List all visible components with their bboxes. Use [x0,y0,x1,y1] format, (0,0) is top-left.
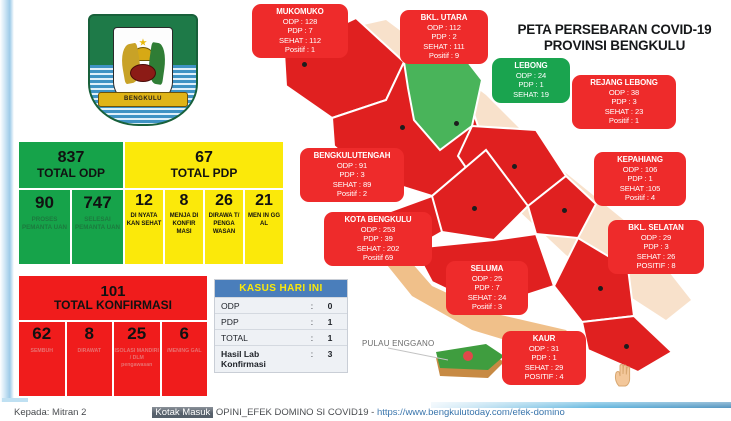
konfirmasi-cell-label: /MENING GAL [167,348,202,355]
konfirmasi-cell-label: SEMBUH [31,348,53,355]
callout-kaur[interactable]: KAUR ODP : 31 PDP : 1 SEHAT : 29 POSITIF… [502,331,586,385]
row-label: ODP [221,301,305,311]
callout-lebong[interactable]: LEBONG ODP : 24 PDP : 1 SEHAT: 19 [492,58,570,103]
callout-sehat: SEHAT : 202 [331,244,425,253]
strip-url[interactable]: https://www.bengkulutoday.com/efek-domin… [377,407,565,418]
pdp-cell-label: MEN IN GG AL [245,212,283,228]
kasus-hari-ini-table: KASUS HARI INI ODP : 0 PDP : 1 TOTAL : 1… [214,279,348,373]
map-dot-lebong [454,121,459,126]
konfirmasi-cell-value: 25 [127,324,146,344]
callout-name: KEPAHIANG [601,155,679,165]
callout-sehat: SEHAT : 29 [509,363,579,372]
strip-text-line[interactable]: Kepada: Mitran 2 Kotak Masuk OPINI_EFEK … [14,407,565,418]
callout-positif: Positif : 2 [307,189,397,198]
total-konfirmasi-value: 101 [100,284,125,300]
konfirmasi-breakdown-cell: 25 ISOLASI MANDIRI / DLM pengawasan [113,321,161,397]
pdp-cell-value: 8 [180,192,189,210]
strip-recipient: Kepada: Mitran 2 [14,407,86,418]
callout-positif: Positif : 4 [601,193,679,202]
row-value: 1 [319,333,341,343]
total-pdp-label: TOTAL PDP [171,167,238,180]
odp-cell-label: PROSES PEMANTA UAN [19,216,70,232]
callout-name: SELUMA [453,264,521,274]
callout-positif: Positif : 9 [407,51,481,60]
callout-pdp: PDP : 3 [579,97,669,106]
callout-rejang-lebong[interactable]: REJANG LEBONG ODP : 38 PDP : 3 SEHAT : 2… [572,75,676,129]
total-konfirmasi-label: TOTAL KONFIRMASI [54,299,172,312]
konfirmasi-cell-value: 6 [180,324,189,344]
konfirmasi-breakdown: 62 SEMBUH 8 DIRAWAT 25 ISOLASI MANDIRI /… [18,321,208,397]
page-title-line1: PETA PERSEBARAN COVID-19 [512,22,717,38]
callout-odp: ODP : 106 [601,165,679,174]
callout-name: KOTA BENGKULU [331,215,425,225]
map-dot-bengkulu-tengah [472,206,477,211]
pdp-breakdown-cell: 21 MEN IN GG AL [244,189,284,265]
pdp-breakdown-cell: 12 DI NYATA KAN SEHAT [124,189,164,265]
callout-name: REJANG LEBONG [579,78,669,88]
callout-bengkulu-utara[interactable]: BKL. UTARA ODP : 112 PDP : 2 SEHAT : 111… [400,10,488,64]
callout-pdp: PDP : 39 [331,234,425,243]
callout-bengkulu-tengah[interactable]: BENGKULUTENGAH ODP : 91 PDP : 3 SEHAT : … [300,148,404,202]
callout-mukomuko[interactable]: MUKOMUKO ODP : 128 PDP : 7 SEHAT : 112 P… [252,4,348,58]
row-separator: : [305,349,319,359]
hand-cursor-icon [612,362,634,388]
callout-odp: ODP : 38 [579,88,669,97]
konfirmasi-breakdown-cell: 6 /MENING GAL [161,321,209,397]
map-dot-rejang-lebong [512,164,517,169]
callout-odp: ODP : 29 [615,233,697,242]
total-konfirmasi-panel: 101 TOTAL KONFIRMASI 62 SEMBUH 8 DIRAWAT… [18,275,208,397]
page-title: PETA PERSEBARAN COVID-19 PROVINSI BENGKU… [512,22,717,55]
row-value: 3 [319,349,341,359]
callout-bengkulu-selatan[interactable]: BKL. SELATAN ODP : 29 PDP : 3 SEHAT : 26… [608,220,704,274]
map-dot-kepahiang [562,208,567,213]
callout-positif: Positif : 3 [453,302,521,311]
bottom-browser-strip: Kepada: Mitran 2 Kotak Masuk OPINI_EFEK … [0,402,731,421]
total-pdp-value: 67 [195,150,213,167]
total-pdp-panel: 67 TOTAL PDP 12 DI NYATA KAN SEHAT 8 MEN… [124,141,284,265]
callout-sehat: SEHAT : 26 [615,252,697,261]
map-dot-bengkulu-selatan [598,286,603,291]
pdp-cell-label: DIRAWA T/ PENGA WASAN [205,212,243,236]
pdp-breakdown-cell: 26 DIRAWA T/ PENGA WASAN [204,189,244,265]
map-dot-mukomuko [302,62,307,67]
island-label-enggano: PULAU ENGGANO [362,339,434,348]
callout-odp: ODP : 91 [307,161,397,170]
row-label: TOTAL [221,333,305,343]
callout-name: BENGKULUTENGAH [307,151,397,161]
map-island-enggano [436,344,504,378]
callout-kota-bengkulu[interactable]: KOTA BENGKULU ODP : 253 PDP : 39 SEHAT :… [324,212,432,266]
callout-sehat: SEHAT: 19 [499,90,563,99]
callout-name: LEBONG [499,61,563,71]
odp-breakdown-cell: 747 SELESAI PEMANTA UAN [71,189,124,265]
odp-cell-label: SELESAI PEMANTA UAN [72,216,123,232]
callout-name: MUKOMUKO [259,7,341,17]
pdp-cell-value: 21 [255,192,273,210]
callout-positif: Positif 69 [331,253,425,262]
table-row: Hasil Lab Konfirmasi : 3 [215,345,347,372]
emblem-ribbon-label: BENGKULU [98,92,187,107]
callout-pdp: PDP : 2 [407,32,481,41]
callout-sehat: SEHAT : 112 [259,36,341,45]
star-icon [139,38,147,46]
konfirmasi-cell-value: 8 [85,324,94,344]
pdp-cell-label: DI NYATA KAN SEHAT [125,212,163,228]
total-odp-label: TOTAL ODP [37,167,105,180]
callout-odp: ODP : 25 [453,274,521,283]
konfirmasi-cell-value: 62 [32,324,51,344]
callout-name: BKL. SELATAN [615,223,697,233]
konfirmasi-breakdown-cell: 8 DIRAWAT [66,321,114,397]
konfirmasi-cell-label: ISOLASI MANDIRI / DLM pengawasan [114,348,160,369]
callout-pdp: PDP : 3 [615,242,697,251]
callout-odp: ODP : 128 [259,17,341,26]
callout-odp: ODP : 24 [499,71,563,80]
callout-pdp: PDP : 1 [509,353,579,362]
callout-name: KAUR [509,334,579,344]
callout-pdp: PDP : 1 [601,174,679,183]
odp-cell-value: 90 [35,193,54,213]
pdp-cell-value: 26 [215,192,233,210]
page-title-line2: PROVINSI BENGKULU [512,38,717,54]
callout-seluma[interactable]: SELUMA ODP : 25 PDP : 7 SEHAT : 24 Posit… [446,261,528,315]
callout-positif: POSITIF : 4 [509,372,579,381]
table-row: TOTAL : 1 [215,329,347,345]
row-separator: : [305,333,319,343]
total-odp-panel: 837 TOTAL ODP 90 PROSES PEMANTA UAN 747 … [18,141,124,265]
callout-positif: Positif : 1 [259,45,341,54]
callout-kepahiang[interactable]: KEPAHIANG ODP : 106 PDP : 1 SEHAT :105 P… [594,152,686,206]
callout-positif: Positif : 1 [579,116,669,125]
pdp-breakdown: 12 DI NYATA KAN SEHAT 8 MENJA DI KONFIR … [124,189,284,265]
total-odp-header: 837 TOTAL ODP [18,141,124,189]
callout-sehat: SEHAT : 23 [579,107,669,116]
map-dot-kaur [624,344,629,349]
pdp-cell-label: MENJA DI KONFIR MASI [165,212,203,236]
left-blue-rail [0,0,14,403]
row-separator: : [305,301,319,311]
callout-sehat: SEHAT : 111 [407,42,481,51]
callout-odp: ODP : 112 [407,23,481,32]
row-value: 0 [319,301,341,311]
row-label: PDP [221,317,305,327]
callout-name: BKL. UTARA [407,13,481,23]
odp-breakdown: 90 PROSES PEMANTA UAN 747 SELESAI PEMANT… [18,189,124,265]
callout-sehat: SEHAT : 24 [453,293,521,302]
total-pdp-header: 67 TOTAL PDP [124,141,284,189]
callout-odp: ODP : 31 [509,344,579,353]
shield-icon: BENGKULU [88,14,198,126]
callout-positif: POSITIF : 8 [615,261,697,270]
callout-pdp: PDP : 3 [307,170,397,179]
total-odp-value: 837 [58,150,85,167]
kasus-hari-ini-title: KASUS HARI INI [215,280,347,297]
callout-sehat: SEHAT :105 [601,184,679,193]
callout-sehat: SEHAT : 89 [307,180,397,189]
pdp-cell-value: 12 [135,192,153,210]
konfirmasi-cell-label: DIRAWAT [77,348,101,355]
odp-cell-value: 747 [83,193,111,213]
table-row: ODP : 0 [215,297,347,313]
row-separator: : [305,317,319,327]
callout-odp: ODP : 253 [331,225,425,234]
row-value: 1 [319,317,341,327]
row-label: Hasil Lab Konfirmasi [221,349,305,370]
bengkulu-coat-of-arms-logo: BENGKULU [88,14,198,126]
callout-pdp: PDP : 7 [259,26,341,35]
slide-canvas: BENGKULU [0,0,731,421]
total-konfirmasi-header: 101 TOTAL KONFIRMASI [18,275,208,321]
callout-pdp: PDP : 1 [499,80,563,89]
konfirmasi-breakdown-cell: 62 SEMBUH [18,321,66,397]
map-dot-bengkulu-utara [400,125,405,130]
strip-folder[interactable]: Kotak Masuk [152,407,213,418]
odp-breakdown-cell: 90 PROSES PEMANTA UAN [18,189,71,265]
callout-pdp: PDP : 7 [453,283,521,292]
pdp-breakdown-cell: 8 MENJA DI KONFIR MASI [164,189,204,265]
table-row: PDP : 1 [215,313,347,329]
strip-subject: OPINI_EFEK DOMINO SI COVID19 - [216,407,377,418]
